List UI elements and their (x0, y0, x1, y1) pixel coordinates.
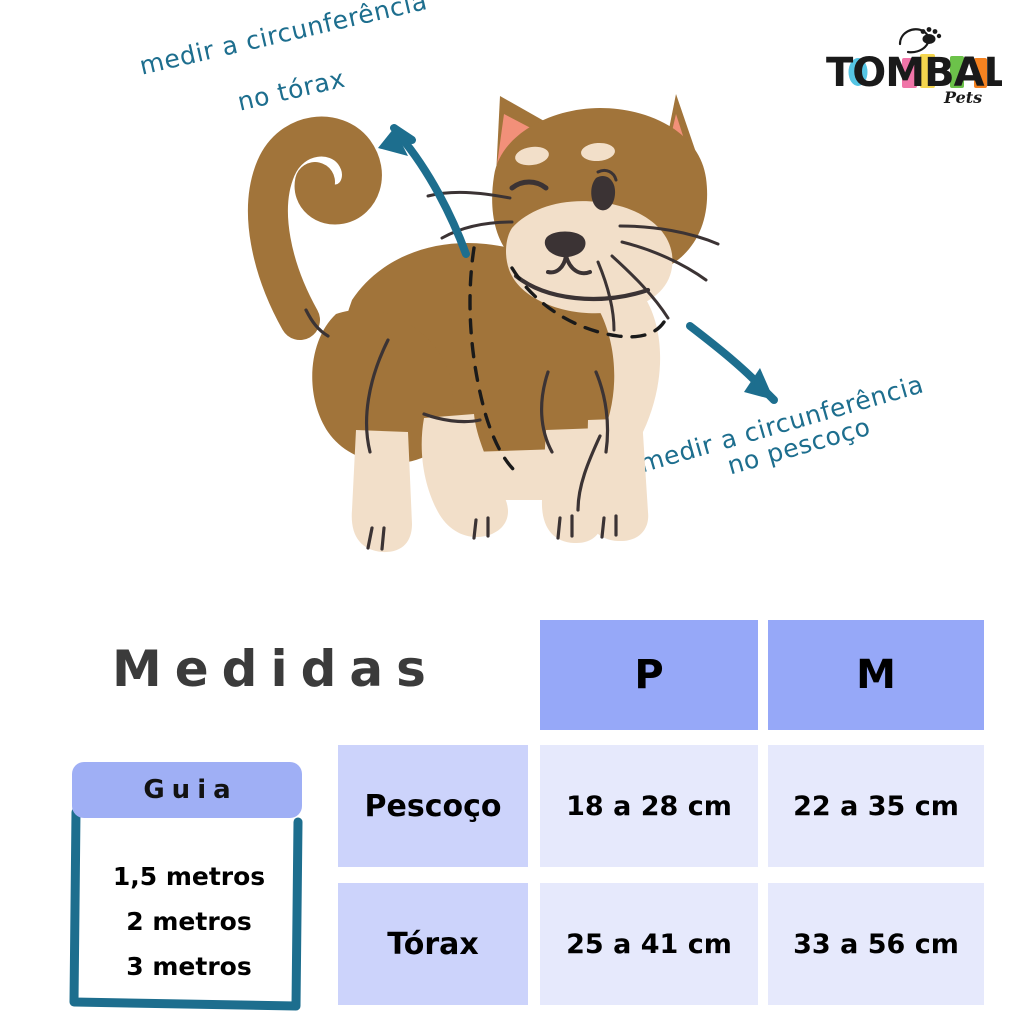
table-cell-torax-p: 25 a 41 cm (540, 883, 758, 1005)
infographic-canvas: TOMBALATAS Pets medir a circunferência n… (0, 0, 1024, 1024)
cat-illustration (0, 0, 1024, 620)
arrow-to-neck (690, 326, 774, 400)
table-row-label-torax: Tórax (338, 883, 528, 1005)
table-header-m: M (768, 620, 984, 730)
arrow-to-thorax (378, 128, 466, 254)
table-cell-torax-m: 33 a 56 cm (768, 883, 984, 1005)
table-header-p: P (540, 620, 758, 730)
table-row-label-pescoco: Pescoço (338, 745, 528, 867)
cat-tail (268, 137, 362, 320)
table-cell-pescoco-m: 22 a 35 cm (768, 745, 984, 867)
measurements-table: P M Pescoço 18 a 28 cm 22 a 35 cm Tórax … (0, 600, 1024, 1024)
table-cell-pescoco-p: 18 a 28 cm (540, 745, 758, 867)
